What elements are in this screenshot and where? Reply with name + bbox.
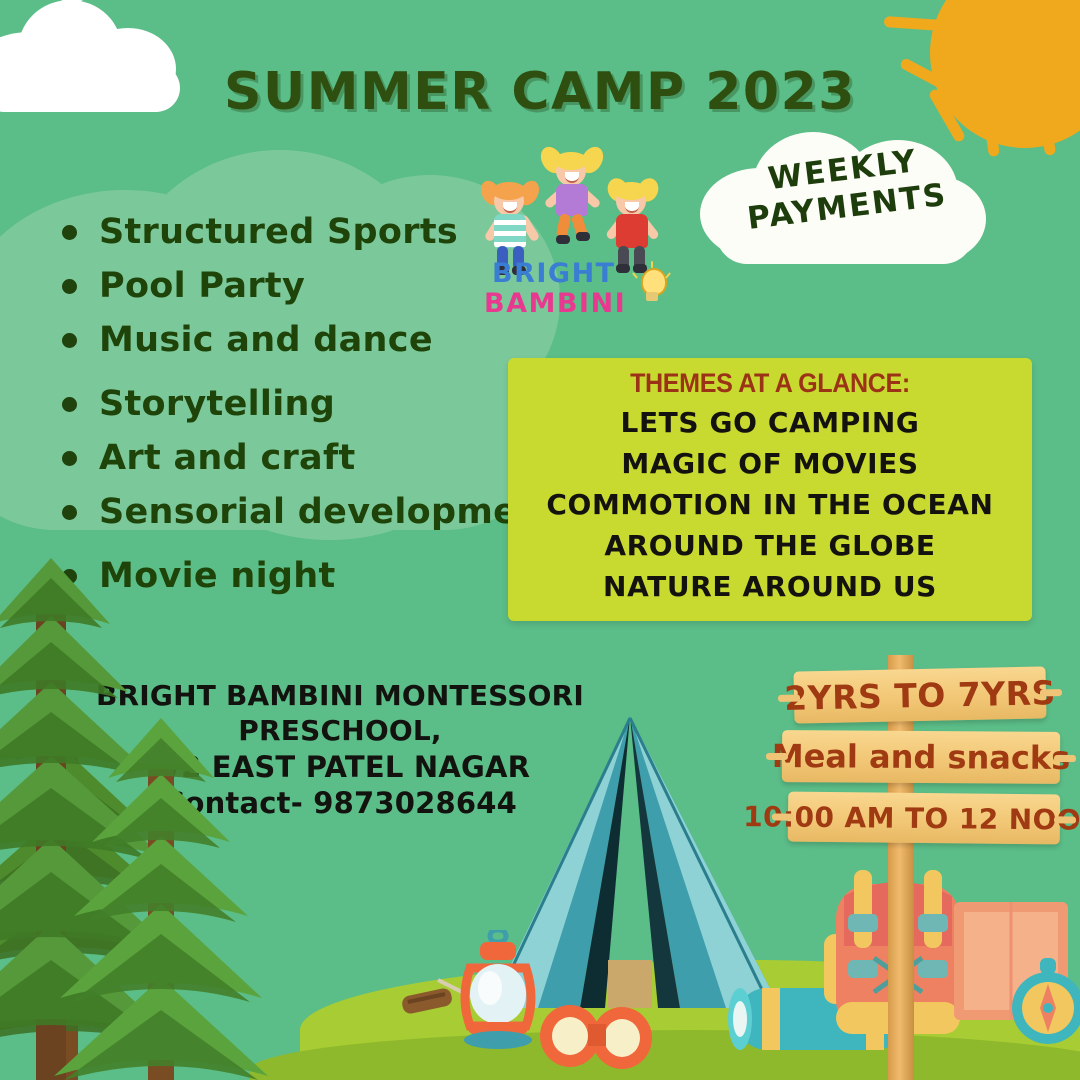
bullet-icon: [62, 505, 77, 520]
sign-meals: Meal and snacks: [782, 730, 1060, 784]
theme-item: COMMOTION IN THE OCEAN: [508, 485, 1032, 526]
info-signpost: 2YRS TO 7YRS Meal and snacks 10:00 AM TO…: [778, 655, 1080, 875]
log-icon: [398, 984, 458, 1023]
themes-heading: THEMES AT A GLANCE:: [526, 368, 1013, 399]
compass-icon: [1010, 958, 1080, 1053]
theme-item: AROUND THE GLOBE: [508, 526, 1032, 567]
lantern-icon: [450, 930, 546, 1055]
theme-item: NATURE AROUND US: [508, 567, 1032, 608]
bullet-icon: [62, 279, 77, 294]
list-item: Art and craft: [62, 438, 532, 478]
bullet-icon: [62, 451, 77, 466]
theme-item: LETS GO CAMPING: [508, 403, 1032, 444]
list-item: Structured Sports: [62, 212, 532, 252]
page-title: SUMMER CAMP 2023: [0, 62, 1080, 122]
list-item: Pool Party: [62, 266, 532, 306]
list-item: Music and dance: [62, 320, 532, 360]
summer-camp-poster: SUMMER CAMP 2023 WEEKLY PAYMENTS: [0, 0, 1080, 1080]
list-item: Storytelling: [62, 384, 532, 424]
themes-panel: THEMES AT A GLANCE: LETS GO CAMPING MAGI…: [508, 358, 1032, 621]
binoculars-icon: [536, 1000, 656, 1077]
weekly-payments-badge: WEEKLY PAYMENTS: [700, 128, 990, 278]
theme-item: MAGIC OF MOVIES: [508, 444, 1032, 485]
bullet-icon: [62, 397, 77, 412]
lightbulb-icon: [638, 268, 666, 304]
pine-tree-icon-front: [50, 690, 270, 1080]
bullet-icon: [62, 225, 77, 240]
bullet-icon: [62, 333, 77, 348]
sign-timing: 10:00 AM TO 12 NOON: [788, 792, 1061, 845]
sign-age-range: 2YRS TO 7YRS: [793, 666, 1046, 723]
